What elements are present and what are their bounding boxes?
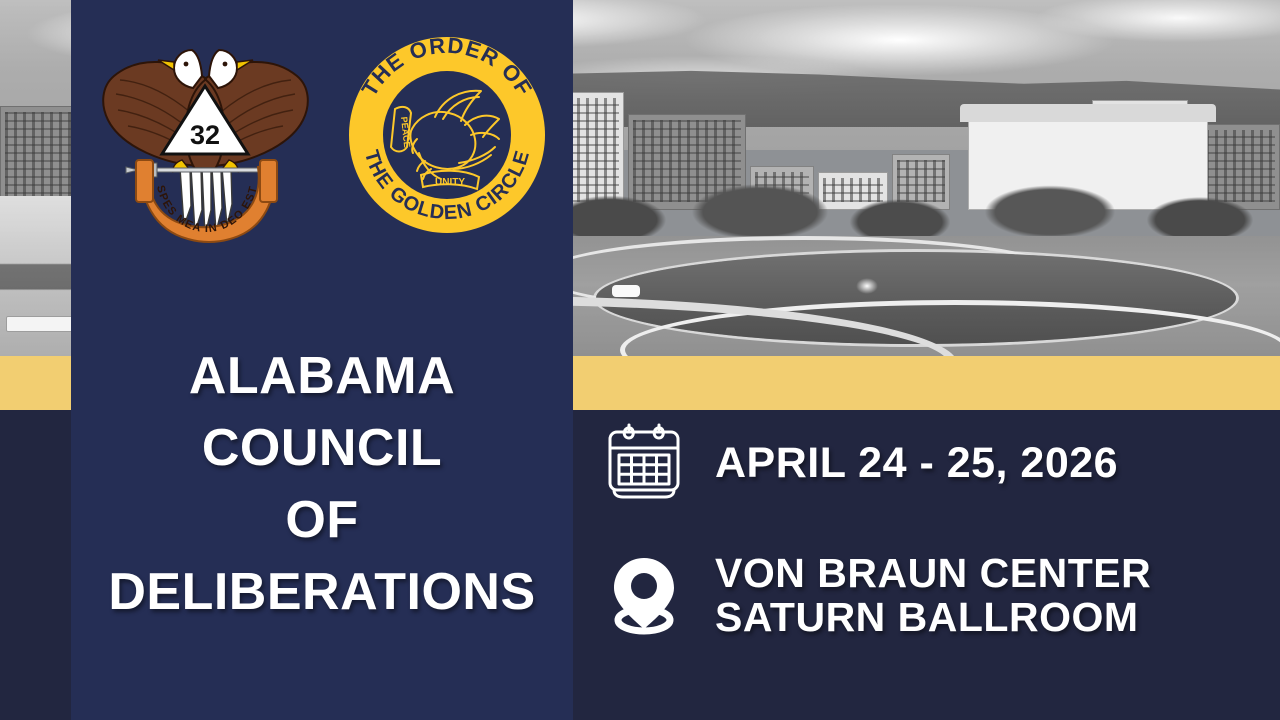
- event-venue-text: VON BRAUN CENTER SATURN BALLROOM: [715, 552, 1151, 639]
- left-navy-panel: 32: [71, 0, 573, 720]
- title-line-3: OF: [71, 492, 573, 548]
- event-poster: 32: [0, 0, 1280, 720]
- map-pin-icon: [601, 550, 687, 641]
- title-line-1: ALABAMA: [71, 348, 573, 404]
- event-venue-row: VON BRAUN CENTER SATURN BALLROOM: [601, 550, 1261, 641]
- calendar-icon: [601, 418, 687, 509]
- golden-circle-icon: PEACE UNITY THE ORDER OF THE GOLDEN CIRC…: [347, 35, 547, 235]
- unity-banner-text: UNITY: [435, 177, 465, 188]
- event-date-text: APRIL 24 - 25, 2026: [715, 441, 1118, 487]
- title-line-4: DELIBERATIONS: [71, 564, 573, 620]
- event-date-row: APRIL 24 - 25, 2026: [601, 418, 1261, 509]
- title-line-2: COUNCIL: [71, 420, 573, 476]
- scottish-rite-eagle-icon: 32: [98, 20, 313, 250]
- photo-fountain: [856, 278, 878, 294]
- event-title: ALABAMA COUNCIL OF DELIBERATIONS: [71, 348, 573, 621]
- logo-row: 32: [71, 10, 573, 260]
- photo-car: [612, 285, 640, 297]
- svg-text:32: 32: [189, 120, 219, 150]
- event-details: APRIL 24 - 25, 2026 VON BRAUN CENTER SAT…: [573, 410, 1280, 720]
